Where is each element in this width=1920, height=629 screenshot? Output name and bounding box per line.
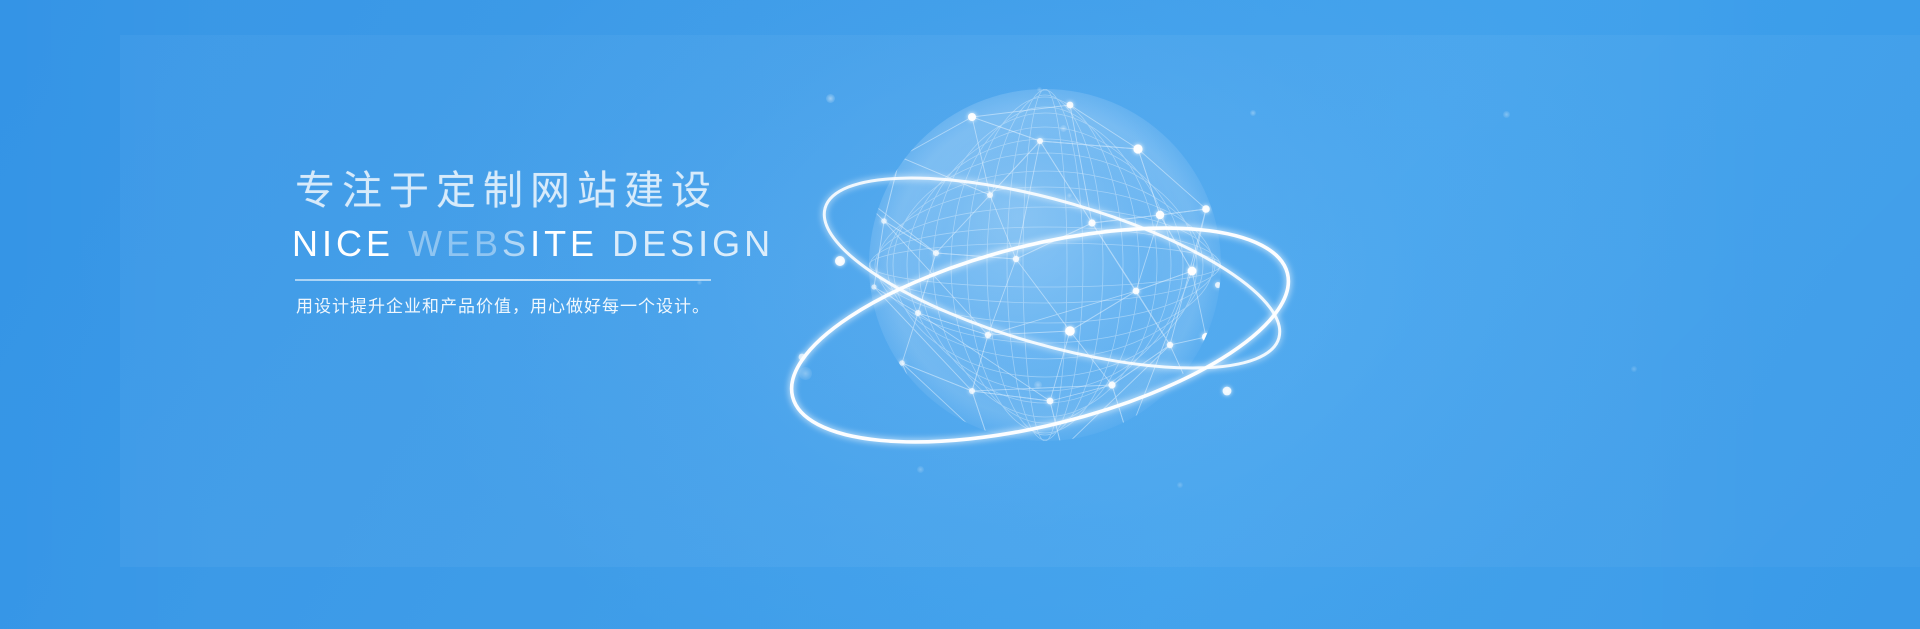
- hero-subheadline: NICE WEBSITE DESIGN: [288, 222, 718, 266]
- hero-banner: 专注于定制网站建设 NICE WEBSITE DESIGN 用设计提升企业和产品…: [0, 0, 1920, 629]
- subheadline-part: ITE: [530, 223, 598, 264]
- hero-copy-block: 专注于定制网站建设 NICE WEBSITE DESIGN 用设计提升企业和产品…: [288, 166, 718, 319]
- network-globe-graphic: [740, 45, 1340, 515]
- subheadline-space: [598, 223, 612, 264]
- copy-divider: [295, 279, 711, 281]
- subheadline-part: WEB: [408, 223, 502, 264]
- hero-tagline: 用设计提升企业和产品价值，用心做好每一个设计。: [288, 295, 718, 319]
- hero-headline: 专注于定制网站建设: [288, 166, 718, 216]
- subheadline-space: [394, 223, 408, 264]
- subheadline-part: NICE: [292, 223, 394, 264]
- subheadline-part: S: [502, 223, 530, 264]
- subheadline-part: DESIGN: [612, 223, 774, 264]
